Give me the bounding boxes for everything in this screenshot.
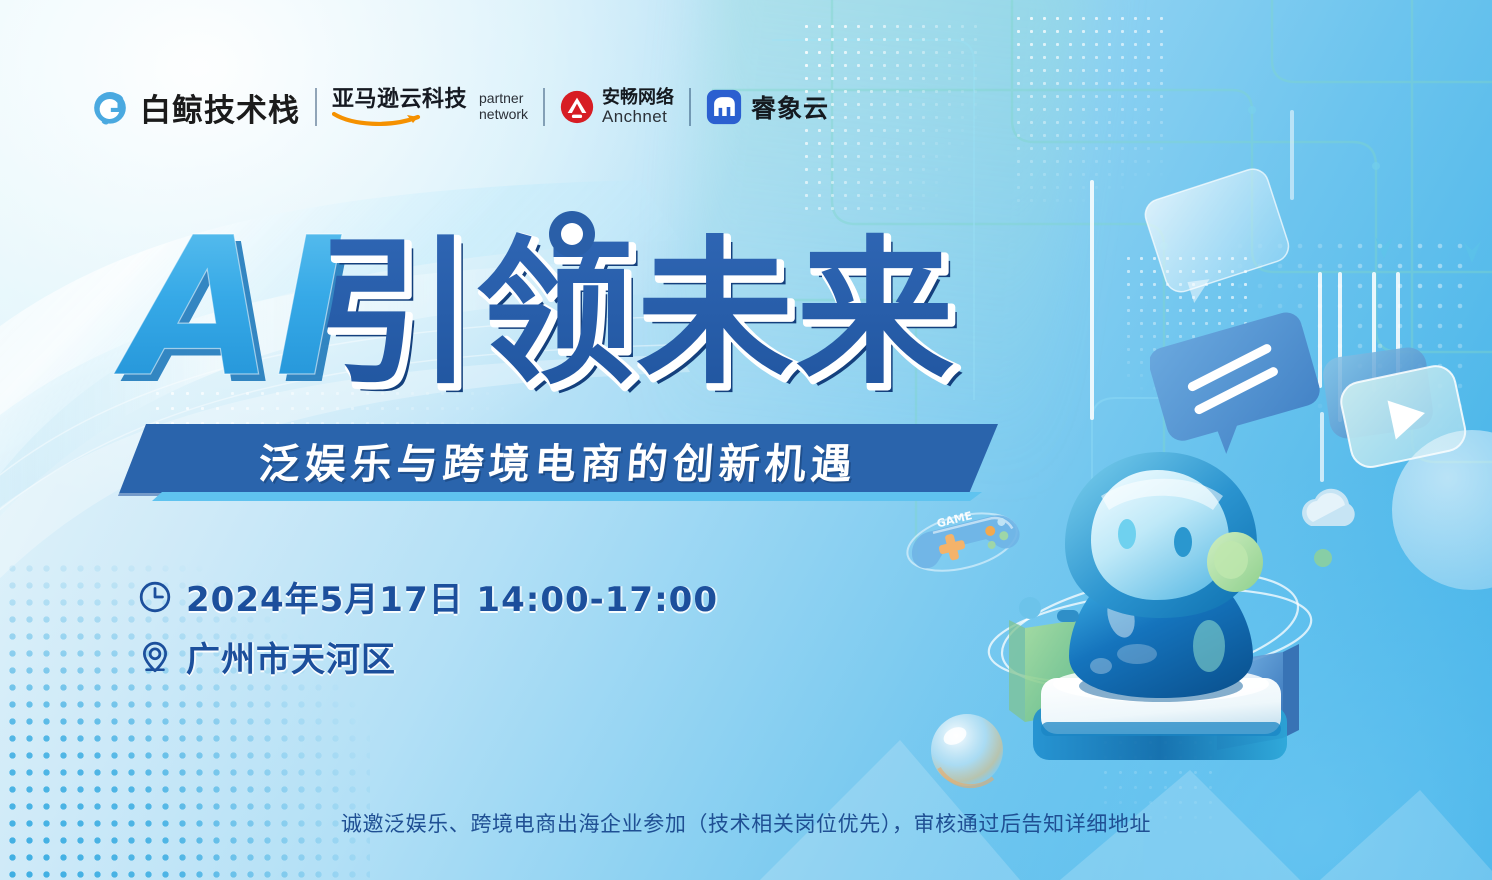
frosted-card-top xyxy=(1130,160,1310,320)
meta-location-text: 广州市天河区 xyxy=(186,632,396,681)
dot-grid-mid-left-card xyxy=(1122,252,1252,422)
headline-ring-accent xyxy=(549,211,595,257)
meta-datetime-text: 2024年5月17日 14:00-17:00 xyxy=(186,572,718,621)
blue-robot-mascot: GAME xyxy=(905,440,1375,810)
robot-head xyxy=(1065,452,1263,618)
aws-partner-line2: network xyxy=(479,107,528,123)
elephant-icon xyxy=(706,89,742,125)
event-meta: 2024年5月17日 14:00-17:00 广州市天河区 xyxy=(138,572,718,692)
location-pin-icon xyxy=(138,640,172,674)
cloud-icon xyxy=(1302,489,1355,526)
dot-grid-upper-right xyxy=(1012,12,1172,202)
mascot-scene: GAME xyxy=(905,440,1375,810)
vertical-bar-5 xyxy=(1396,272,1400,390)
headline-artwork: AI AI 引领未来 引领未来 引领未来 xyxy=(120,196,1100,406)
event-poster: 白鲸技术栈 亚马逊云科技 partner network xyxy=(0,0,1492,880)
whale-g-icon xyxy=(90,87,130,127)
headline-title: AI AI 引领未来 引领未来 引领未来 xyxy=(120,196,1100,406)
meta-row-location: 广州市天河区 xyxy=(138,632,718,681)
logo-divider-1 xyxy=(315,88,317,126)
headline-latin: AI xyxy=(113,197,346,420)
logo-ruixiang-label: 睿象云 xyxy=(751,89,829,125)
subtitle-ribbon: 泛娱乐与跨境电商的创新机遇 xyxy=(118,424,998,496)
footnote-text: 诚邀泛娱乐、跨境电商出海企业参加（技术相关岗位优先），审核通过后告知详细地址 xyxy=(0,808,1492,838)
halftone-dots-right xyxy=(1230,236,1470,446)
anchnet-arch-icon xyxy=(560,90,594,124)
logo-anchnet-label: 安畅网络 xyxy=(602,88,674,107)
headline-chinese: 引领未来 xyxy=(316,222,956,406)
logo-divider-2 xyxy=(543,88,545,126)
subtitle-text: 泛娱乐与跨境电商的创新机遇 xyxy=(115,424,1000,496)
vertical-bar-2 xyxy=(1318,272,1322,388)
logo-anchnet[interactable]: 安畅网络 Anchnet xyxy=(560,88,674,125)
logo-baijing[interactable]: 白鲸技术栈 xyxy=(90,85,300,130)
logo-baijing-label: 白鲸技术栈 xyxy=(140,85,300,130)
vertical-bar-3 xyxy=(1338,272,1342,422)
robot-eye-left xyxy=(1118,519,1136,549)
logo-aws-label: 亚马逊云科技 xyxy=(332,88,467,110)
vertical-bar-4 xyxy=(1372,272,1376,392)
subtitle-underline xyxy=(152,492,982,501)
bubble-sphere xyxy=(931,714,1003,786)
green-ribbon-side xyxy=(1009,620,1025,722)
logo-divider-3 xyxy=(689,88,691,126)
clock-icon xyxy=(138,580,172,614)
logo-aws-partner-text: partner network xyxy=(479,91,528,122)
aws-partner-line1: partner xyxy=(479,91,528,107)
cloud-node-dot xyxy=(1314,549,1332,567)
amazon-smile-icon xyxy=(332,111,428,127)
meta-row-datetime: 2024年5月17日 14:00-17:00 xyxy=(138,572,718,621)
logo-ruixiang[interactable]: 睿象云 xyxy=(706,89,829,125)
game-controller-icon: GAME xyxy=(900,499,1024,581)
partner-logo-bar: 白鲸技术栈 亚马逊云科技 partner network xyxy=(90,78,829,136)
logo-anchnet-label-en: Anchnet xyxy=(602,108,674,126)
orbit-node xyxy=(1019,597,1041,619)
robot-eye-right xyxy=(1174,527,1192,557)
pale-circle-decor xyxy=(1392,430,1492,590)
logo-aws[interactable]: 亚马逊云科技 partner network xyxy=(332,88,528,127)
headline-chinese-group: 引领未来 引领未来 引领未来 xyxy=(316,222,965,415)
vertical-bar-7 xyxy=(1290,110,1294,200)
